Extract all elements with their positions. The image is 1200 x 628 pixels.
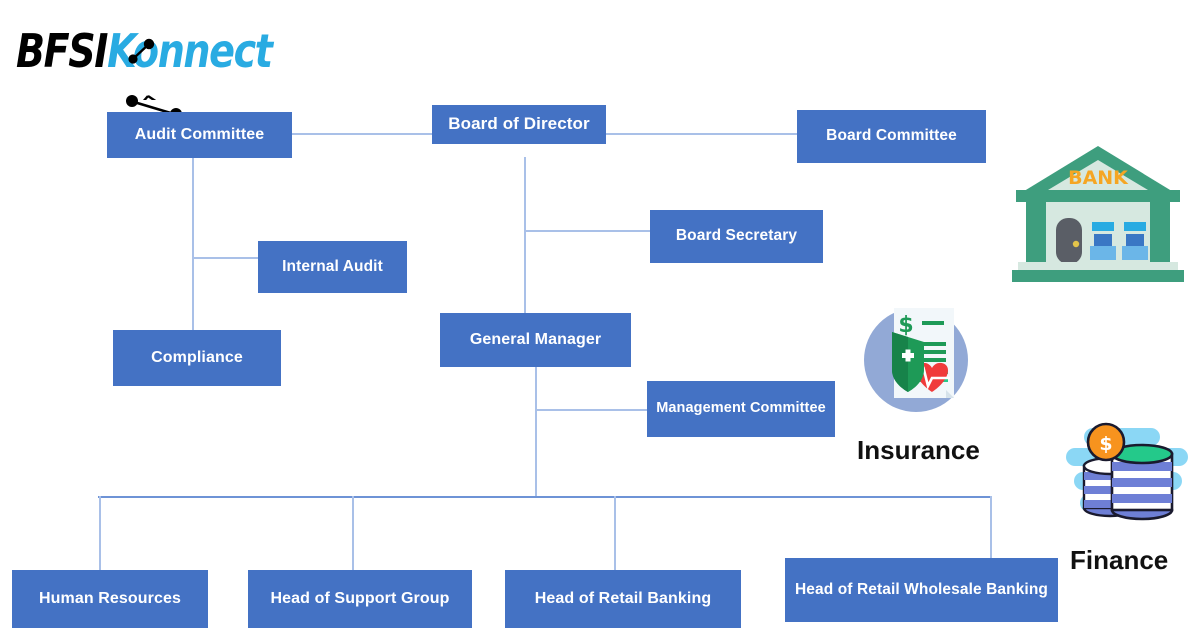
finance-label: Finance (1070, 545, 1168, 576)
connector-audit-to-board (292, 133, 432, 135)
node-human-resources[interactable]: Human Resources (12, 570, 208, 628)
connector-gm-to-management-committee (535, 409, 647, 411)
org-chart-canvas: BFSIKonnect Audit Committee Bo (0, 0, 1200, 628)
insurance-label: Insurance (857, 435, 980, 466)
node-head-of-retail-wholesale-banking[interactable]: Head of Retail Wholesale Banking (785, 558, 1058, 622)
node-compliance[interactable]: Compliance (113, 330, 281, 386)
node-board-secretary[interactable]: Board Secretary (650, 210, 823, 263)
coin-stack-icon: $ (1062, 420, 1192, 530)
connector-bottom-bus (98, 496, 992, 498)
connector-audit-stem (192, 157, 194, 331)
insurance-shield-document-icon: $ (858, 298, 978, 423)
connector-drop-support-group (352, 496, 354, 572)
connector-drop-wholesale-banking (990, 496, 992, 558)
connector-board-to-secretary (524, 230, 652, 232)
node-board-committee[interactable]: Board Committee (797, 110, 986, 163)
node-board-of-director[interactable]: Board of Director (432, 105, 606, 144)
connector-audit-to-internal-audit (192, 257, 258, 259)
connector-drop-retail-banking (614, 496, 616, 572)
node-management-committee[interactable]: Management Committee (647, 381, 835, 437)
node-head-of-retail-banking[interactable]: Head of Retail Banking (505, 570, 741, 628)
bfsi-konnect-logo: BFSIKonnect (16, 22, 246, 100)
connector-board-stem (524, 157, 526, 315)
bank-sign-text: BANK (1068, 167, 1129, 189)
connector-board-to-board-committee (605, 133, 798, 135)
bank-building-icon: BANK (1008, 140, 1188, 290)
connector-gm-stem (535, 367, 537, 497)
node-internal-audit[interactable]: Internal Audit (258, 241, 407, 293)
node-audit-committee[interactable]: Audit Committee (107, 112, 292, 158)
connector-drop-human-resources (99, 496, 101, 572)
node-general-manager[interactable]: General Manager (440, 313, 631, 367)
svg-text:$: $ (898, 313, 913, 338)
node-head-of-support-group[interactable]: Head of Support Group (248, 570, 472, 628)
svg-text:$: $ (1099, 433, 1112, 455)
